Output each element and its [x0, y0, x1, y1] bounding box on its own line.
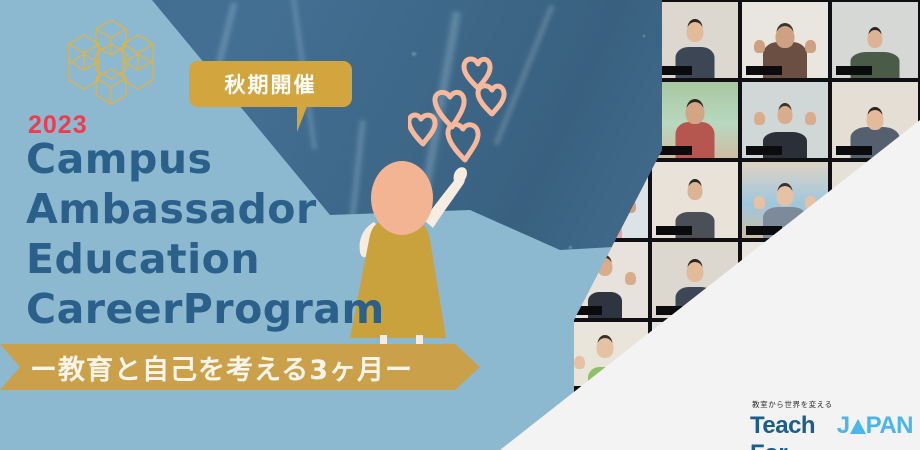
participant-head [868, 30, 883, 48]
subtitle-ribbon: ー教育と自己を考える3ヶ月ー [0, 344, 480, 390]
participant-hand [574, 356, 585, 369]
season-badge-label: 秋期開催 [225, 69, 317, 99]
participant-nameplate [746, 66, 782, 75]
heart-icon [409, 115, 435, 144]
mount-fuji-icon [850, 419, 866, 434]
video-participant-tile [652, 162, 738, 238]
page-title: Campus Ambassador Education CareerProgra… [26, 134, 385, 334]
logo-letters-pan: PAN [866, 412, 913, 440]
video-participant-tile [742, 82, 828, 158]
participant-head [687, 22, 704, 42]
participant-hand [805, 112, 816, 125]
participant-nameplate [746, 146, 782, 155]
participant-head [777, 186, 794, 206]
title-line-1: Campus [26, 134, 385, 184]
participant-head [686, 102, 705, 124]
participant-head [778, 106, 793, 124]
hand-drawn-heart-decoration [408, 50, 528, 170]
participant-nameplate [656, 226, 692, 235]
logo-tagline: 教室から世界を変える [752, 399, 913, 410]
campus-ambassador-poster: 教室から世界を変える Teach For JPAN [0, 0, 920, 450]
participant-head [688, 182, 703, 200]
badge-tail-icon [297, 104, 317, 132]
participant-hand [754, 112, 765, 125]
participant-head [597, 338, 614, 358]
video-participant-tile [832, 2, 918, 78]
participant-hand [805, 40, 816, 53]
participant-hand [754, 40, 765, 53]
logo-word-japan: JPAN [837, 412, 913, 440]
participant-hand [754, 196, 765, 209]
logo-wordmark: Teach For JPAN [750, 412, 913, 450]
heart-icon [435, 92, 464, 127]
subtitle-ribbon-label: ー教育と自己を考える3ヶ月ー [30, 348, 413, 387]
teach-for-japan-logo: 教室から世界を変える Teach For JPAN [748, 399, 913, 450]
participant-nameplate [566, 306, 602, 315]
season-badge: 秋期開催 [189, 61, 352, 107]
title-line-2: Ambassador [26, 184, 385, 234]
participant-head [776, 26, 795, 48]
participant-nameplate [836, 66, 872, 75]
participant-head [598, 258, 613, 276]
participant-hand [625, 272, 636, 285]
logo-word-teach-for: Teach For [750, 412, 832, 450]
video-participant-tile [652, 82, 738, 158]
logo-letter-j: J [837, 412, 850, 440]
video-participant-tile [742, 2, 828, 78]
video-participant-tile [562, 242, 648, 318]
participant-head [867, 110, 884, 130]
title-line-3: Education [26, 234, 385, 284]
participant-hand [574, 272, 585, 285]
title-line-4: CareerProgram [26, 284, 385, 334]
heart-icon [448, 124, 478, 160]
video-participant-tile [652, 2, 738, 78]
hexagon-cube-snowflake-ornament [56, 16, 166, 108]
heart-icon [478, 86, 504, 114]
participant-head [687, 262, 704, 282]
participant-nameplate [836, 146, 872, 155]
